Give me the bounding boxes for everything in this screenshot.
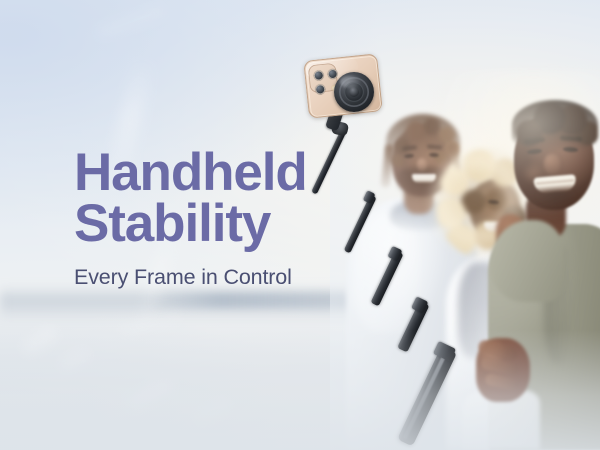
headline-line-2: Stability [74, 199, 374, 250]
nose [417, 158, 427, 171]
hood [490, 220, 564, 302]
subheadline: Every Frame in Control [74, 265, 374, 290]
marketing-copy-block: Handheld Stability Every Frame in Contro… [74, 148, 374, 290]
chin-shadow [534, 190, 578, 210]
smile [412, 174, 436, 183]
nose [544, 154, 560, 174]
headline: Handheld Stability [74, 148, 374, 250]
bottom-haze-overlay [0, 330, 600, 450]
hero-banner: Handheld Stability Every Frame in Contro… [0, 0, 600, 450]
